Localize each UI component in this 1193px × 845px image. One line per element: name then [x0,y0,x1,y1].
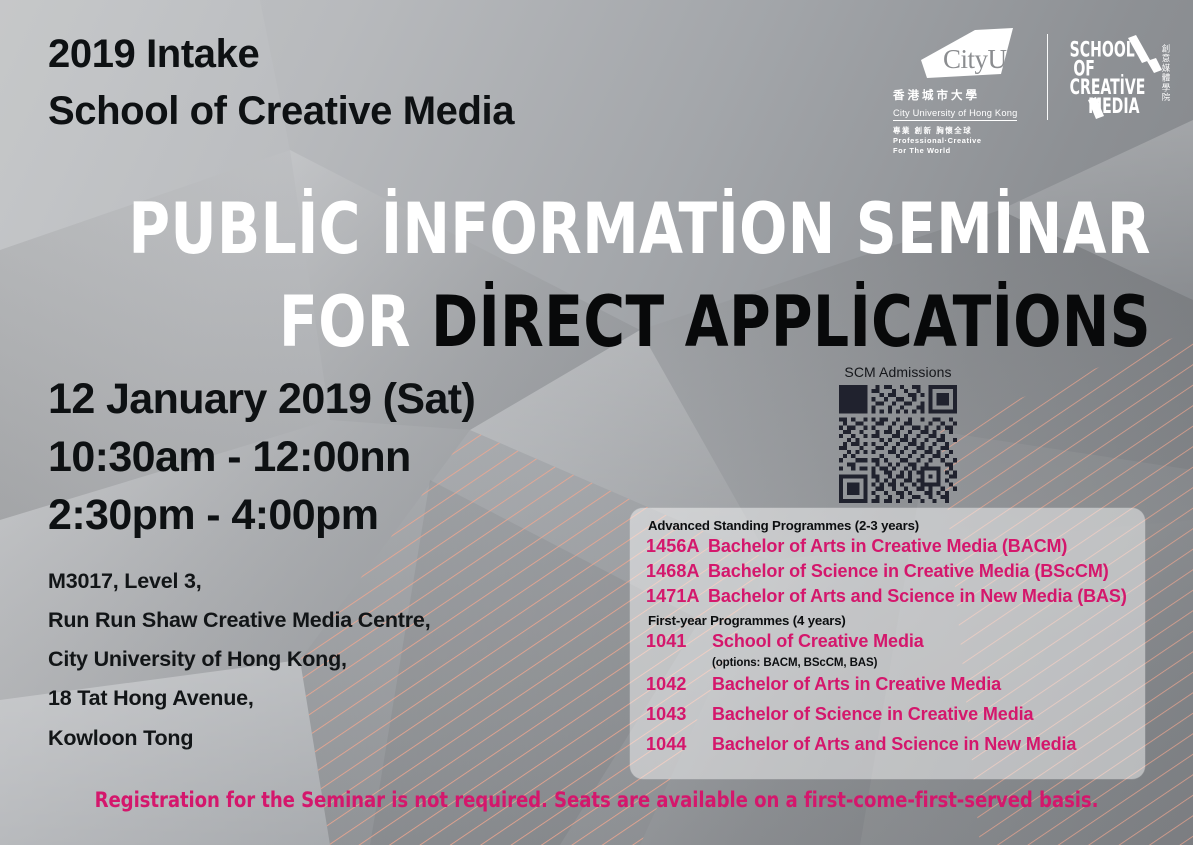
poster: 2019 Intake School of Creative Media Cit… [0,0,1193,845]
first-year-list: 1041 School of Creative Media (options: … [646,631,1145,755]
venue-line-3: City University of Hong Kong, [48,640,430,679]
programme-row: 1043 Bachelor of Science in Creative Med… [646,704,1145,725]
programme-code: 1042 [646,674,712,695]
event-date: 12 January 2019 (Sat) [48,370,475,428]
venue-line-2: Run Run Shaw Creative Media Centre, [48,601,430,640]
venue-line-4: 18 Tat Hong Avenue, [48,679,430,718]
event-session-2: 2:30pm - 4:00pm [48,486,475,544]
cityu-tagline-cn: 專業 創新 胸懷全球 [893,125,1033,136]
programme-code: 1456A [646,536,708,557]
cityu-flag-icon: CityU [917,28,1017,86]
registration-note: Registration for the Seminar is not requ… [24,788,1169,812]
title-line-2-main: DİRECT APPLİCATİONS [431,281,1151,363]
programme-row: 1468A Bachelor of Science in Creative Me… [646,561,1145,582]
programme-code: 1044 [646,734,712,755]
programme-name: Bachelor of Science in Creative Media (B… [708,561,1109,582]
qr-code[interactable] [839,385,957,503]
programme-options: (options: BACM, BScCM, BAS) [712,657,1145,669]
event-session-1: 10:30am - 12:00nn [48,428,475,486]
programme-row: 1044 Bachelor of Arts and Science in New… [646,734,1145,755]
first-year-heading: First-year Programmes (4 years) [648,613,1145,628]
cityu-name-en: City University of Hong Kong [893,108,1017,121]
poster-heading: 2019 Intake School of Creative Media [48,26,514,140]
qr-block: SCM Admissions [823,364,973,503]
programme-name: Bachelor of Arts in Creative Media [712,674,1001,695]
svg-text:CityU: CityU [943,44,1007,74]
programme-name: Bachelor of Arts in Creative Media (BACM… [708,536,1067,557]
programme-code: 1041 [646,631,712,652]
title-line-2: FOR DİRECT APPLİCATİONS [115,276,1151,369]
logo-group: CityU 香港城市大學 City University of Hong Kon… [893,28,1174,156]
cityu-name-cn: 香港城市大學 [893,87,1033,103]
venue-line-1: M3017, Level 3, [48,562,430,601]
svg-text:創意媒體學院: 創意媒體學院 [1160,43,1170,102]
logo-divider [1047,34,1048,120]
programme-name: Bachelor of Arts and Science in New Medi… [708,586,1127,607]
programme-name: School of Creative Media [712,631,924,652]
cityu-logo: CityU 香港城市大學 City University of Hong Kon… [893,28,1033,156]
programme-row: 1042 Bachelor of Arts in Creative Media [646,674,1145,695]
event-datetime: 12 January 2019 (Sat) 10:30am - 12:00nn … [48,370,475,544]
venue-line-5: Kowloon Tong [48,719,430,758]
intake-year-line: 2019 Intake [48,26,514,83]
programme-code: 1468A [646,561,708,582]
advanced-standing-heading: Advanced Standing Programmes (2-3 years) [648,518,1145,533]
venue-address: M3017, Level 3, Run Run Shaw Creative Me… [48,562,430,758]
programmes-panel: Advanced Standing Programmes (2-3 years)… [630,508,1145,779]
programme-row: 1471A Bachelor of Arts and Science in Ne… [646,586,1145,607]
programme-name: Bachelor of Science in Creative Media [712,704,1033,725]
school-name-line: School of Creative Media [48,83,514,140]
title-line-2-for: FOR [279,281,431,363]
title-line-1: PUBLİC İNFORMATİON SEMİNAR [115,183,1151,276]
programme-name: Bachelor of Arts and Science in New Medi… [712,734,1076,755]
programme-code: 1043 [646,704,712,725]
programme-code: 1471A [646,586,708,607]
qr-caption: SCM Admissions [823,364,973,380]
advanced-standing-list: 1456A Bachelor of Arts in Creative Media… [646,536,1145,607]
scm-logo: SCHOOL OF CREATİVE MEDIA 創意媒體學院 [1066,28,1174,120]
cityu-tagline-en-2: For The World [893,146,1033,156]
cityu-tagline-en-1: Professional·Creative [893,136,1033,146]
programme-row: 1041 School of Creative Media [646,631,1145,652]
programme-row: 1456A Bachelor of Arts in Creative Media… [646,536,1145,557]
poster-title: PUBLİC İNFORMATİON SEMİNAR FOR DİRECT AP… [0,183,1151,369]
